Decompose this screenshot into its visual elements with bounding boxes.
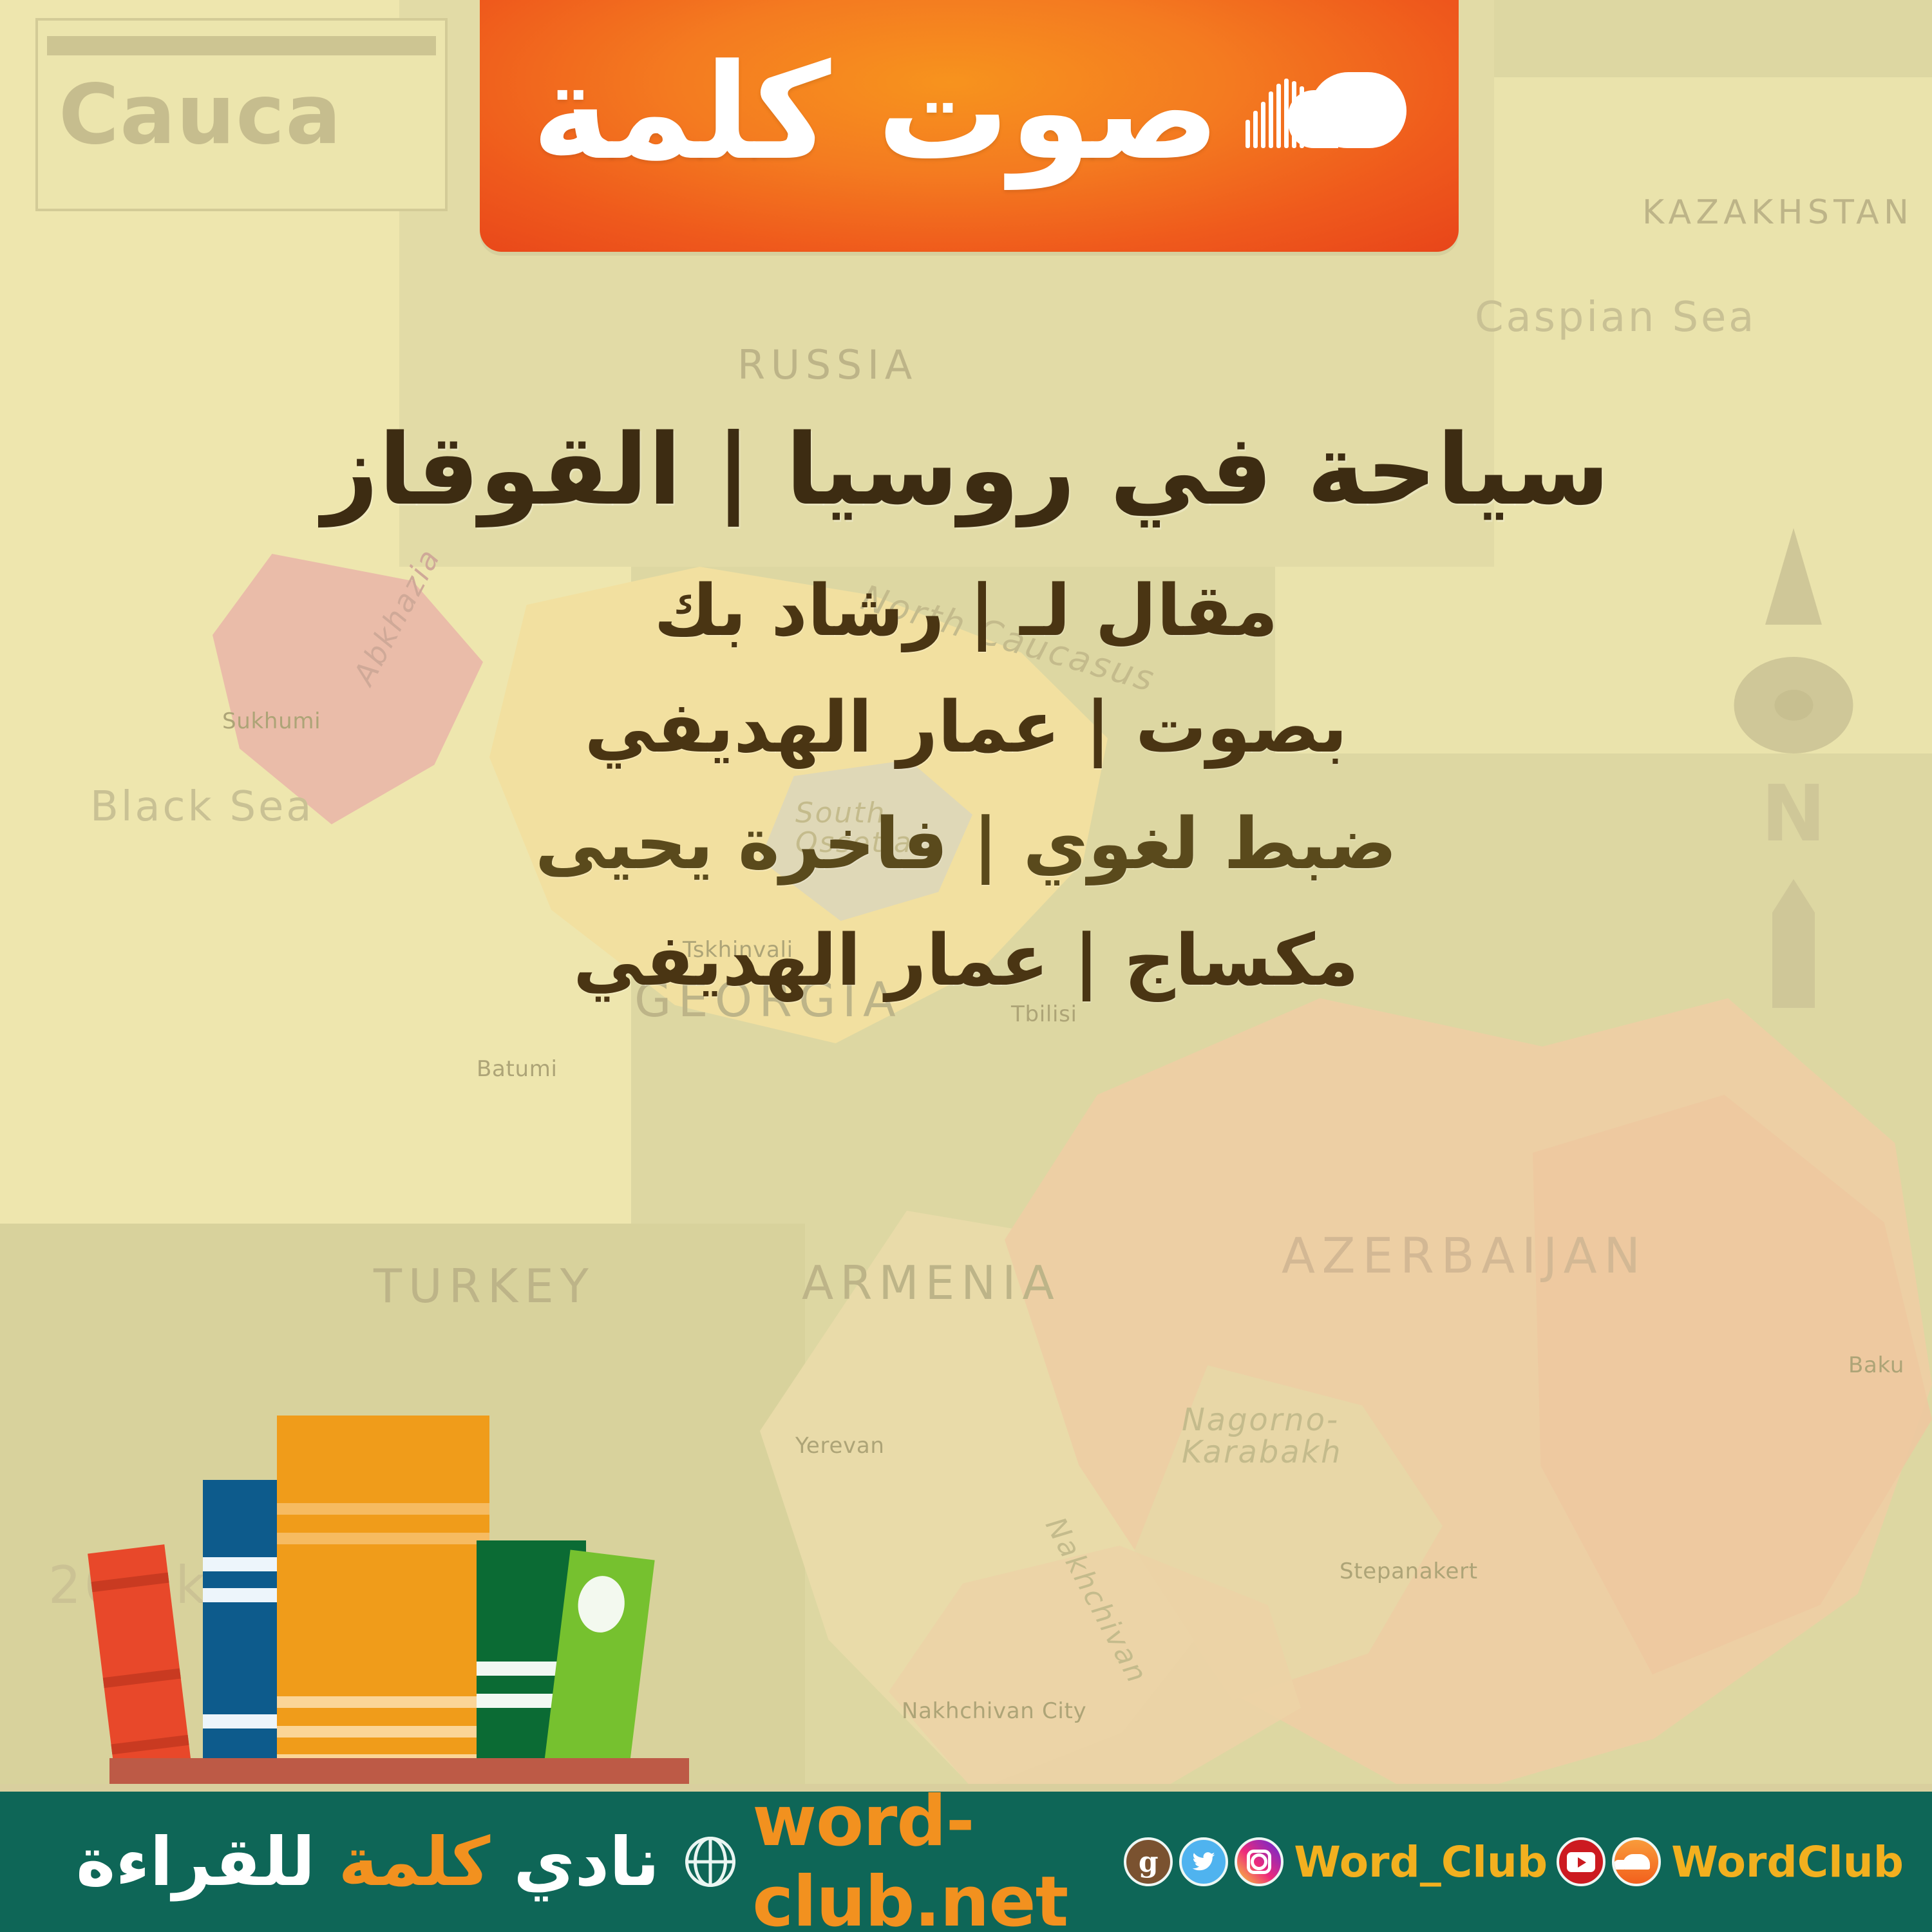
globe-icon — [685, 1837, 735, 1887]
map-label-russia: RUSSIA — [737, 341, 918, 388]
brand-highlight: كلمة — [338, 1823, 490, 1901]
social-group-wordclub: WordClub — [1557, 1837, 1904, 1887]
soundcloud-logo-icon — [1245, 62, 1406, 165]
badge-title: صوت كلمة — [532, 47, 1220, 179]
credit-language-editor: ضبط لغوي | فاخرة يحيى — [0, 806, 1932, 882]
twitter-icon[interactable] — [1179, 1837, 1228, 1886]
map-label-baku: Baku — [1848, 1352, 1904, 1378]
soundcloud-cloud — [1310, 72, 1406, 148]
handle-wordclub: WordClub — [1671, 1837, 1904, 1887]
map-label-nagorno-karabakh: Nagorno-Karabakh — [1182, 1404, 1375, 1469]
map-label-turkey: TURKEY — [374, 1259, 595, 1313]
soundcloud-icon[interactable] — [1612, 1837, 1661, 1886]
brand-prefix: نادي — [490, 1823, 659, 1901]
footer-bar: نادي كلمة للقراءة word-club.net g Word_C… — [0, 1784, 1932, 1932]
main-content: سياحة في روسيا | القوقاز مقال لـ | رشاد … — [0, 412, 1932, 1039]
map-title-box: Cauca — [35, 18, 448, 211]
footer-brand-logo[interactable]: نادي كلمة للقراءة — [45, 1828, 659, 1895]
map-label-caspian-sea: Caspian Sea — [1475, 296, 1756, 339]
soundcloud-badge[interactable]: صوت كلمة — [480, 0, 1459, 252]
map-title-bar — [47, 36, 436, 55]
book-shelf — [109, 1758, 689, 1786]
map-label-armenia: ARMENIA — [802, 1256, 1061, 1310]
credit-article-author: مقال لـ | رشاد بك — [0, 573, 1932, 649]
youtube-icon[interactable] — [1557, 1837, 1605, 1886]
map-label-nakhchivan-city: Nakhchivan City — [902, 1700, 1101, 1723]
books-illustration — [109, 1423, 599, 1784]
map-label-batumi: Batumi — [477, 1056, 558, 1082]
instagram-icon[interactable] — [1235, 1837, 1283, 1886]
goodreads-icon[interactable]: g — [1124, 1837, 1173, 1886]
book-orange — [277, 1416, 489, 1784]
map-label-azerbaijan: AZERBAIJAN — [1282, 1227, 1647, 1284]
map-label-yerevan: Yerevan — [795, 1433, 885, 1459]
poster-canvas: RUSSIA KAZAKHSTAN GEORGIA ARMENIA AZERBA… — [0, 0, 1932, 1932]
social-group-word-club: g Word_Club — [1124, 1837, 1548, 1887]
website-url-text: word-club.net — [752, 1781, 1124, 1932]
social-links: g Word_Club WordClub — [1124, 1837, 1904, 1887]
map-label-stepanakert: Stepanakert — [1340, 1558, 1478, 1584]
book-circle-decoration — [575, 1573, 628, 1635]
credit-voice: بصوت | عمار الهديفي — [0, 689, 1932, 766]
credit-mixing: مكساج | عمار الهديفي — [0, 922, 1932, 999]
handle-word-club: Word_Club — [1294, 1837, 1548, 1887]
page-title: سياحة في روسيا | القوقاز — [0, 412, 1932, 527]
map-title-text: Cauca — [38, 67, 445, 163]
map-label-kazakhstan: KAZAKHSTAN — [1642, 193, 1913, 232]
brand-suffix: للقراءة — [76, 1823, 338, 1901]
website-link[interactable]: word-club.net — [685, 1781, 1124, 1932]
